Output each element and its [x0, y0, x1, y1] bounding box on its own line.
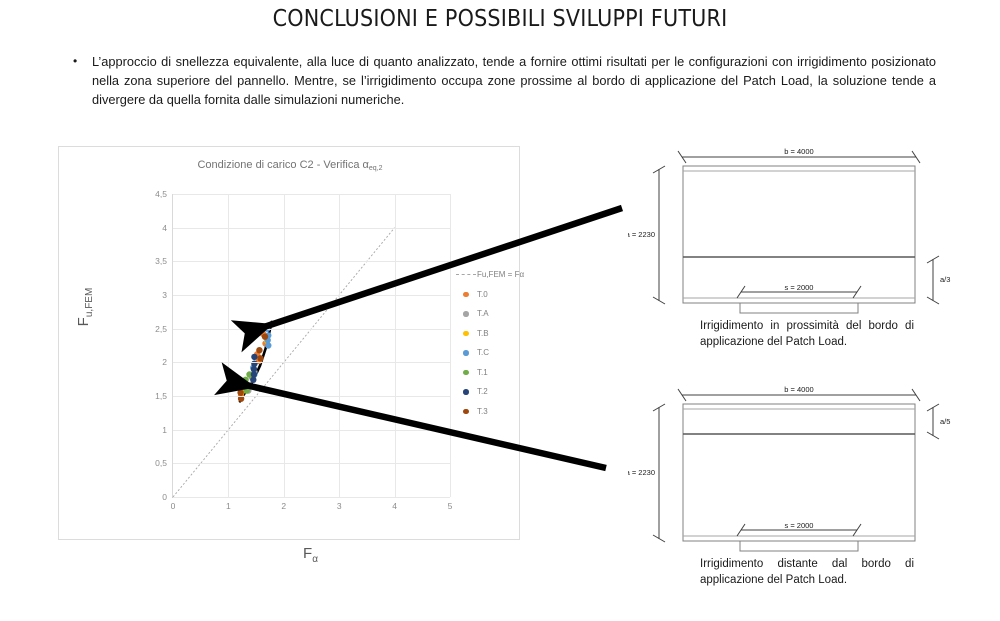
legend-dot-icon: [455, 311, 477, 317]
data-point-t2: [250, 377, 256, 383]
legend-dot-icon: [455, 292, 477, 298]
legend-dot-icon: [455, 350, 477, 356]
data-point-tc: [251, 371, 257, 377]
data-point-tc: [265, 342, 271, 348]
x-axis-tick-label: 0: [171, 501, 176, 511]
gridline-vertical: [228, 194, 229, 497]
data-point-t2: [251, 354, 257, 360]
data-point-t3: [256, 347, 262, 353]
legend-item-fufemf[interactable]: Fu,FEM = Fα: [455, 265, 519, 285]
y-axis-label: Fu,FEM: [75, 247, 95, 367]
diagram-bottom-offset-label: a/5: [940, 417, 950, 426]
diagram-top-height-label: a = 2230: [628, 230, 655, 239]
diagram-top-caption: Irrigidimento in prossimità del bordo di…: [700, 318, 914, 350]
gridline-horizontal: [173, 228, 450, 229]
data-point-tc: [265, 337, 271, 343]
legend-item-ta[interactable]: T.A: [455, 304, 519, 324]
chart-title-main: Condizione di carico C2 - Verifica α: [197, 159, 368, 171]
data-point-t1: [243, 382, 249, 388]
diagram-bottom-height-label: a = 2230: [628, 468, 655, 477]
dashed-line-icon: [456, 274, 476, 275]
x-axis-tick-label: 5: [448, 501, 453, 511]
legend-item-label: T.B: [477, 329, 489, 338]
diagram-panel-stiffener-far-edge: b = 4000 a = 2230 a/5 s = 2000: [628, 378, 988, 558]
data-point-tc: [250, 365, 256, 371]
bullet-marker: •: [64, 52, 92, 71]
diagram-bottom-svg: b = 4000 a = 2230 a/5 s = 2000: [628, 378, 988, 558]
y-axis-tick-label: 1: [162, 425, 167, 435]
legend-item-label: T.A: [477, 309, 489, 318]
y-axis-tick-label: 3,5: [155, 256, 167, 266]
chart-legend: Fu,FEM = FαT.0T.AT.BT.CT.1T.2T.3: [455, 265, 519, 421]
x-axis-tick-label: 3: [337, 501, 342, 511]
diagram-bottom-patch-label: s = 2000: [785, 521, 814, 530]
legend-dot-icon: [455, 370, 477, 376]
chart-plot-area: 00,511,522,533,544,5012345: [172, 194, 450, 498]
legend-dash-icon: [455, 274, 477, 275]
data-point-t0: [237, 385, 243, 391]
y-axis-tick-label: 0: [162, 492, 167, 502]
legend-item-tc[interactable]: T.C: [455, 343, 519, 363]
y-axis-label-subscript: u,FEM: [84, 288, 95, 317]
gridline-horizontal: [173, 396, 450, 397]
bullet-paragraph: L’approccio di snellezza equivalente, al…: [92, 52, 936, 109]
gridline-vertical: [284, 194, 285, 497]
data-point-t3: [237, 389, 243, 395]
data-point-ta: [249, 374, 255, 380]
data-point-tb: [244, 384, 250, 390]
chart-title: Condizione di carico C2 - Verifica αeq,2: [59, 159, 521, 171]
color-swatch-icon: [463, 311, 469, 317]
chart-title-subscript: eq,2: [369, 165, 383, 172]
gridline-horizontal: [173, 194, 450, 195]
data-point-ta: [245, 387, 251, 393]
x-axis-tick-label: 4: [392, 501, 397, 511]
color-swatch-icon: [463, 389, 469, 395]
data-point-t3: [257, 355, 263, 361]
color-swatch-icon: [463, 331, 469, 337]
legend-item-t1[interactable]: T.1: [455, 363, 519, 383]
data-point-t1: [242, 377, 248, 383]
legend-item-tb[interactable]: T.B: [455, 324, 519, 344]
data-point-tb: [239, 389, 245, 395]
legend-item-t0[interactable]: T.0: [455, 285, 519, 305]
x-axis-label-main: F: [303, 545, 312, 562]
legend-dot-icon: [455, 389, 477, 395]
gridline-vertical: [339, 194, 340, 497]
color-swatch-icon: [463, 409, 469, 415]
data-point-ta: [251, 369, 257, 375]
y-axis-tick-label: 4,5: [155, 189, 167, 199]
legend-item-label: T.2: [477, 387, 488, 396]
gridline-vertical: [395, 194, 396, 497]
diagram-top-patch-label: s = 2000: [785, 283, 814, 292]
gridline-horizontal: [173, 463, 450, 464]
x-axis-label-subscript: α: [312, 554, 318, 565]
y-axis-tick-label: 2: [162, 357, 167, 367]
data-point-t2: [251, 366, 257, 372]
data-point-ta: [246, 382, 252, 388]
gridline-horizontal: [173, 497, 450, 498]
legend-item-t2[interactable]: T.2: [455, 382, 519, 402]
data-point-t1: [246, 371, 252, 377]
y-axis-label-main: F: [75, 317, 92, 326]
body-text-block: • L’approccio di snellezza equivalente, …: [64, 52, 936, 109]
data-point-tc: [265, 332, 271, 338]
data-point-tb: [264, 338, 270, 344]
diagram-bottom-caption: Irrigidimento distante dal bordo di appl…: [700, 556, 914, 588]
diagram-top-svg: b = 4000 a = 2230 a/3 s = 2000: [628, 140, 988, 340]
data-point-t3: [262, 334, 268, 340]
data-point-t0: [254, 351, 260, 357]
color-swatch-icon: [463, 292, 469, 298]
y-axis-tick-label: 3: [162, 290, 167, 300]
y-axis-tick-label: 2,5: [155, 324, 167, 334]
legend-item-label: Fu,FEM = Fα: [477, 270, 524, 279]
y-axis-tick-label: 4: [162, 223, 167, 233]
legend-item-label: T.0: [477, 290, 488, 299]
data-point-tb: [250, 373, 256, 379]
gridline-vertical: [450, 194, 451, 497]
legend-dot-icon: [455, 409, 477, 415]
x-axis-tick-label: 2: [281, 501, 286, 511]
gridline-horizontal: [173, 329, 450, 330]
data-point-t2: [251, 371, 257, 377]
color-swatch-icon: [463, 350, 469, 356]
chart-svg-overlay: [173, 194, 450, 497]
legend-item-label: T.1: [477, 368, 488, 377]
color-swatch-icon: [463, 370, 469, 376]
gridline-horizontal: [173, 261, 450, 262]
gridline-horizontal: [173, 430, 450, 431]
x-axis-label: Fα: [172, 545, 449, 565]
gridline-horizontal: [173, 362, 450, 363]
y-axis-tick-label: 1,5: [155, 391, 167, 401]
chart-container: Condizione di carico C2 - Verifica αeq,2…: [58, 146, 520, 540]
page-title: CONCLUSIONI E POSSIBILI SVILUPPI FUTURI: [0, 6, 1000, 32]
legend-dot-icon: [455, 331, 477, 337]
x-axis-tick-label: 1: [226, 501, 231, 511]
diagram-top-offset-label: a/3: [940, 275, 950, 284]
data-point-t0: [242, 378, 248, 384]
bullet-item: • L’approccio di snellezza equivalente, …: [64, 52, 936, 109]
legend-item-t3[interactable]: T.3: [455, 402, 519, 422]
diagram-top-width-label: b = 4000: [784, 147, 813, 156]
diagram-bottom-width-label: b = 4000: [784, 385, 813, 394]
legend-item-label: T.C: [477, 348, 489, 357]
y-axis-tick-label: 0,5: [155, 458, 167, 468]
data-point-t0: [260, 331, 266, 337]
gridline-horizontal: [173, 295, 450, 296]
data-point-t0: [262, 340, 268, 346]
diagram-panel-stiffener-near-edge: b = 4000 a = 2230 a/3 s = 2000: [628, 140, 988, 340]
legend-item-label: T.3: [477, 407, 488, 416]
data-point-t1: [244, 387, 250, 393]
